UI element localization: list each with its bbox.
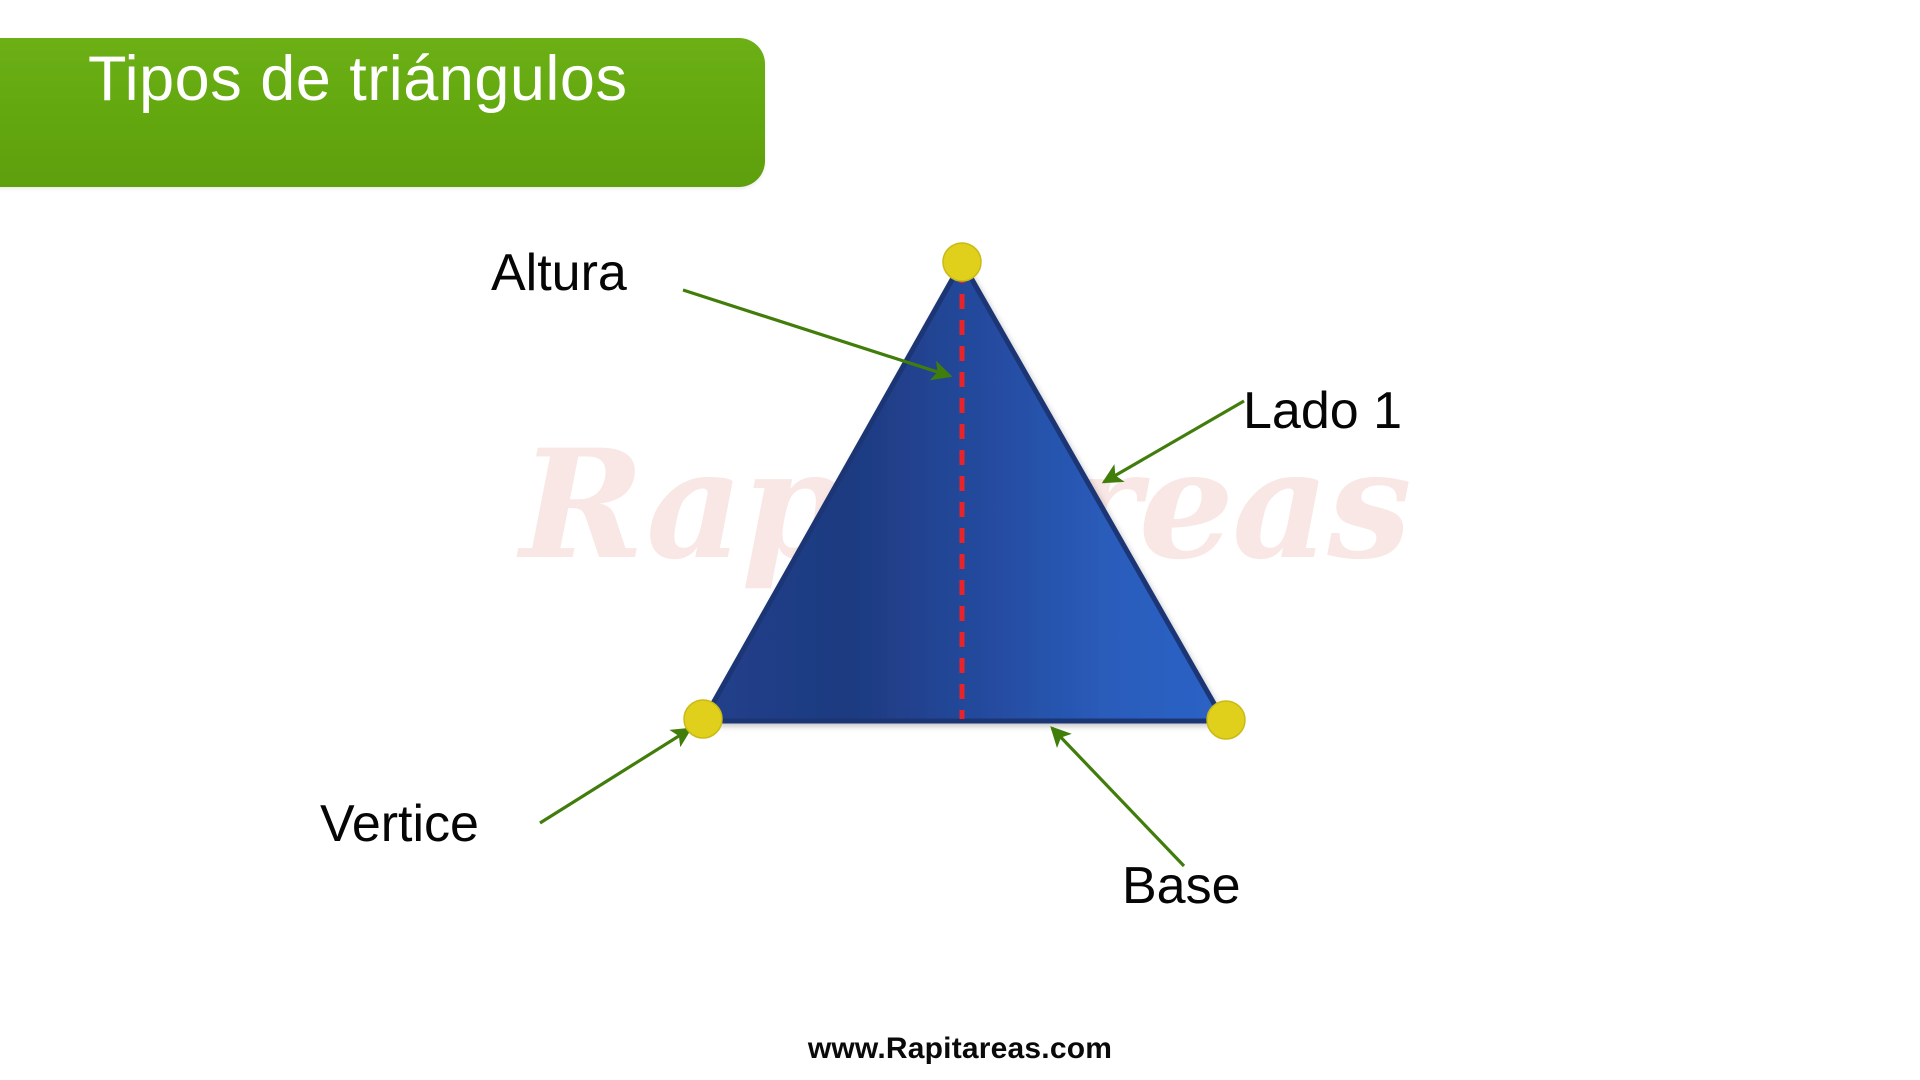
callout-label-lado1: Lado 1	[1243, 385, 1402, 437]
triangle-figure	[0, 0, 1920, 1080]
vertex-dot-bottom-left	[684, 700, 722, 738]
vertex-dot-apex	[943, 243, 981, 281]
callout-label-altura: Altura	[491, 247, 627, 299]
lado1-leader-arrow	[1104, 401, 1244, 482]
base-leader-arrow	[1052, 728, 1184, 866]
footer-website-url: www.Rapitareas.com	[0, 1032, 1920, 1066]
slide-canvas: Tipos de triángulos Rapitareas	[0, 0, 1920, 1080]
altura-leader-arrow	[683, 290, 950, 376]
vertice-leader-arrow	[540, 729, 690, 823]
vertex-dot-bottom-right	[1207, 701, 1245, 739]
callout-label-base: Base	[1122, 860, 1241, 912]
callout-label-vertice: Vertice	[320, 798, 479, 850]
